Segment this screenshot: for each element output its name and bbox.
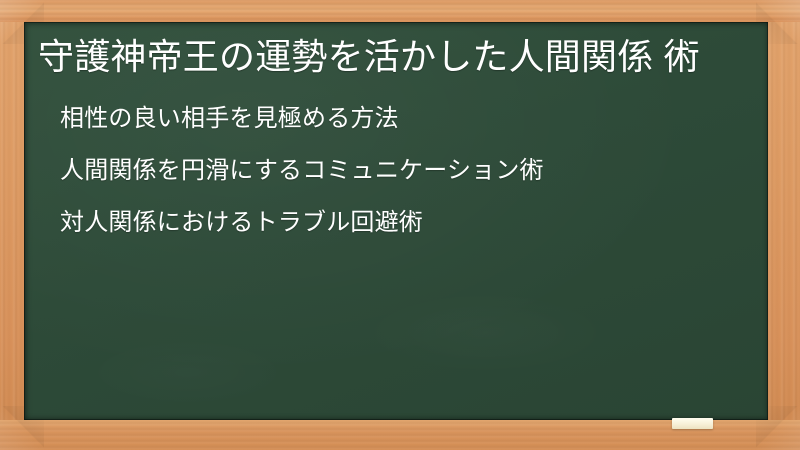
slide-title-line-1: 守護神帝王の運勢を活かした人間関係 xyxy=(38,36,653,77)
chalkboard-content: 守護神帝王の運勢を活かした人間関係 術 相性の良い相手を見極める方法 人間関係を… xyxy=(24,22,768,420)
chalk-stick-icon xyxy=(672,418,713,429)
list-item: 相性の良い相手を見極める方法 xyxy=(60,107,748,131)
topic-list: 相性の良い相手を見極める方法 人間関係を円滑にするコミュニケーション術 対人関係… xyxy=(36,107,748,235)
blackboard-slide: 守護神帝王の運勢を活かした人間関係 術 相性の良い相手を見極める方法 人間関係を… xyxy=(0,0,800,450)
list-item: 人間関係を円滑にするコミュニケーション術 xyxy=(60,159,748,183)
chalkboard-surface: 守護神帝王の運勢を活かした人間関係 術 相性の良い相手を見極める方法 人間関係を… xyxy=(24,22,768,420)
wood-frame-top-rail xyxy=(0,0,800,22)
list-item: 対人関係におけるトラブル回避術 xyxy=(60,211,748,235)
slide-title-line-2: 術 xyxy=(664,36,700,77)
slide-title: 守護神帝王の運勢を活かした人間関係 術 xyxy=(36,32,748,81)
